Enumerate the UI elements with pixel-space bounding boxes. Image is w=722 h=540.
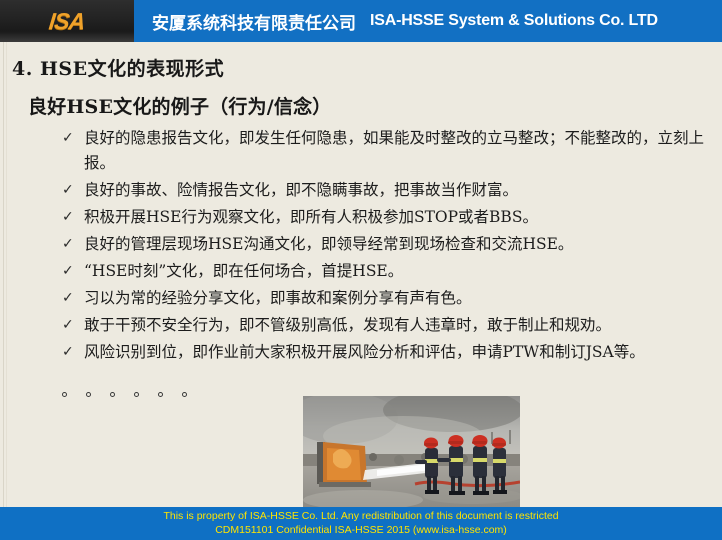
list-item: ✓ 积极开展HSE行为观察文化，即所有人积极参加STOP或者BBS。 xyxy=(62,205,712,230)
list-item: ✓ 风险识别到位，即作业前大家积极开展风险分析和评估，申请PTW和制订JSA等。 xyxy=(62,340,712,365)
company-name-en: ISA-HSSE System & Solutions Co. LTD xyxy=(370,12,658,30)
slide-canvas: ISA 安厦系统科技有限责任公司 ISA-HSSE System & Solut… xyxy=(0,0,722,540)
trailing-circle-markers xyxy=(62,392,187,397)
circle-marker-icon xyxy=(134,392,139,397)
check-icon: ✓ xyxy=(62,286,84,311)
list-item-text: 良好的管理层现场HSE沟通文化，即领导经常到现场检查和交流HSE。 xyxy=(84,232,712,257)
circle-marker-icon xyxy=(62,392,67,397)
isa-logo-icon: ISA xyxy=(48,8,86,35)
list-item: ✓ “HSE时刻”文化，即在任何场合，首提HSE。 xyxy=(62,259,712,284)
slide-title: 4. HSE文化的表现形式 xyxy=(12,54,224,81)
list-item-text: 习以为常的经验分享文化，即事故和案例分享有声有色。 xyxy=(84,286,712,311)
circle-marker-icon xyxy=(86,392,91,397)
left-edge-rule xyxy=(3,42,4,507)
check-icon: ✓ xyxy=(62,178,84,203)
check-icon: ✓ xyxy=(62,259,84,284)
check-icon: ✓ xyxy=(62,232,84,257)
list-item: ✓ 敢于干预不安全行为，即不管级别高低，发现有人违章时，敢于制止和规劝。 xyxy=(62,313,712,338)
list-item-text: 良好的隐患报告文化，即发生任何隐患，如果能及时整改的立马整改；不能整改的，立刻上… xyxy=(84,126,712,176)
list-item: ✓ 习以为常的经验分享文化，即事故和案例分享有声有色。 xyxy=(62,286,712,311)
bullet-list: ✓ 良好的隐患报告文化，即发生任何隐患，如果能及时整改的立马整改；不能整改的，立… xyxy=(62,126,712,367)
list-item-text: 敢于干预不安全行为，即不管级别高低，发现有人违章时，敢于制止和规劝。 xyxy=(84,313,712,338)
footer-line-1: This is property of ISA-HSSE Co. Ltd. An… xyxy=(0,509,722,523)
check-icon: ✓ xyxy=(62,126,84,151)
check-icon: ✓ xyxy=(62,313,84,338)
check-icon: ✓ xyxy=(62,205,84,230)
list-item: ✓ 良好的管理层现场HSE沟通文化，即领导经常到现场检查和交流HSE。 xyxy=(62,232,712,257)
company-name-cn: 安厦系统科技有限责任公司 xyxy=(152,9,356,34)
list-item-text: 良好的事故、险情报告文化，即不隐瞒事故，把事故当作财富。 xyxy=(84,178,712,203)
list-item-text: 积极开展HSE行为观察文化，即所有人积极参加STOP或者BBS。 xyxy=(84,205,712,230)
list-item-text: 风险识别到位，即作业前大家积极开展风险分析和评估，申请PTW和制订JSA等。 xyxy=(84,340,712,365)
list-item: ✓ 良好的事故、险情报告文化，即不隐瞒事故，把事故当作财富。 xyxy=(62,178,712,203)
circle-marker-icon xyxy=(110,392,115,397)
company-logo-panel: ISA xyxy=(0,0,134,42)
slide-header: ISA 安厦系统科技有限责任公司 ISA-HSSE System & Solut… xyxy=(0,0,722,42)
header-title-group: 安厦系统科技有限责任公司 ISA-HSSE System & Solutions… xyxy=(134,9,722,34)
check-icon: ✓ xyxy=(62,340,84,365)
slide-subtitle: 良好HSE文化的例子（行为/信念） xyxy=(28,92,332,119)
slide-footer: This is property of ISA-HSSE Co. Ltd. An… xyxy=(0,507,722,540)
list-item: ✓ 良好的隐患报告文化，即发生任何隐患，如果能及时整改的立马整改；不能整改的，立… xyxy=(62,126,712,176)
circle-marker-icon xyxy=(158,392,163,397)
left-edge-rule-secondary xyxy=(6,42,7,507)
list-item-text: “HSE时刻”文化，即在任何场合，首提HSE。 xyxy=(84,259,712,284)
circle-marker-icon xyxy=(182,392,187,397)
footer-line-2: CDM151101 Confidential ISA-HSSE 2015 (ww… xyxy=(0,523,722,537)
firefighter-training-photo xyxy=(303,396,520,508)
